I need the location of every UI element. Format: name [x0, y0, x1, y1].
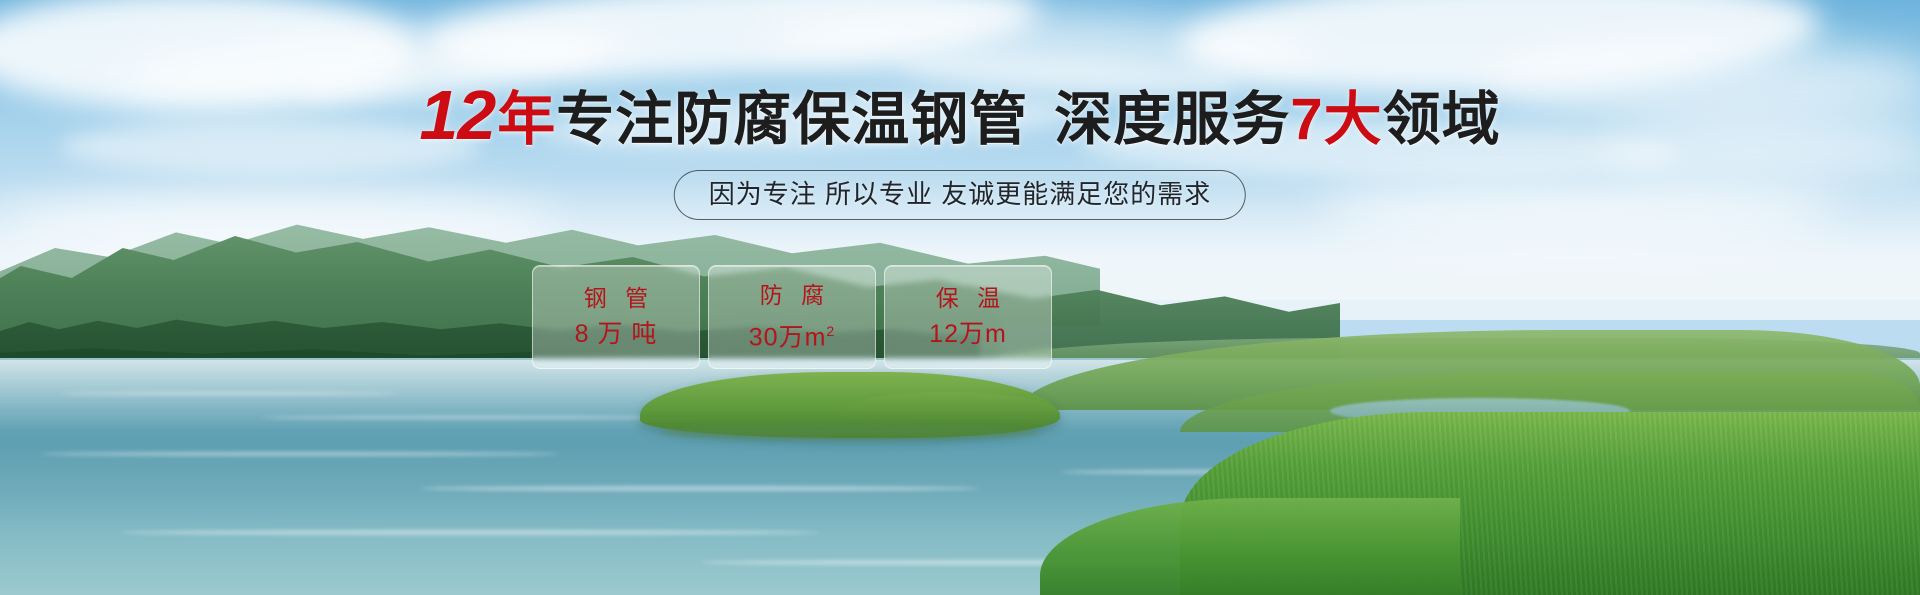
headline-number: 12 [419, 76, 497, 154]
stat-card[interactable]: 防 腐 30万m2 [708, 265, 876, 369]
headline-number-unit: 年 [497, 87, 556, 152]
stat-card-value-superscript: 2 [826, 323, 835, 339]
water-ripple [60, 392, 400, 395]
water-ripple [420, 486, 980, 491]
water-ripple [120, 530, 820, 535]
stat-card-title: 保 温 [930, 286, 1006, 311]
stat-card[interactable]: 钢 管 8 万 吨 [532, 265, 700, 369]
water-ripple [260, 416, 680, 419]
stat-card-value: 30万m2 [749, 318, 835, 351]
headline-part-2: 深度服务 [1054, 87, 1290, 152]
headline-part-3: 领域 [1383, 87, 1501, 152]
stat-card-value-text: 8 万 吨 [575, 320, 658, 348]
stat-card-value: 8 万 吨 [575, 321, 658, 348]
stat-card[interactable]: 保 温 12万m [884, 265, 1052, 369]
stat-card-value-text: 30万m [749, 323, 827, 351]
stat-card-value-text: 12万m [929, 320, 1007, 348]
stat-card-title: 钢 管 [578, 286, 654, 311]
water-ripple [40, 452, 560, 456]
stat-card-group: 钢 管 8 万 吨 防 腐 30万m2 保 温 12万m [532, 265, 1052, 369]
headline-part-1: 专注防腐保温钢管 [556, 87, 1028, 152]
subtitle-pill: 因为专注 所以专业 友诚更能满足您的需求 [674, 170, 1246, 220]
page-title: 12年专注防腐保温钢管深度服务7大领域 [0, 84, 1920, 151]
island-shadow [660, 424, 1040, 440]
hero-banner: 12年专注防腐保温钢管深度服务7大领域 因为专注 所以专业 友诚更能满足您的需求… [0, 0, 1920, 595]
stat-card-value: 12万m [929, 321, 1007, 348]
headline-highlight-2: 7大 [1290, 87, 1382, 152]
stat-card-title: 防 腐 [754, 283, 830, 308]
